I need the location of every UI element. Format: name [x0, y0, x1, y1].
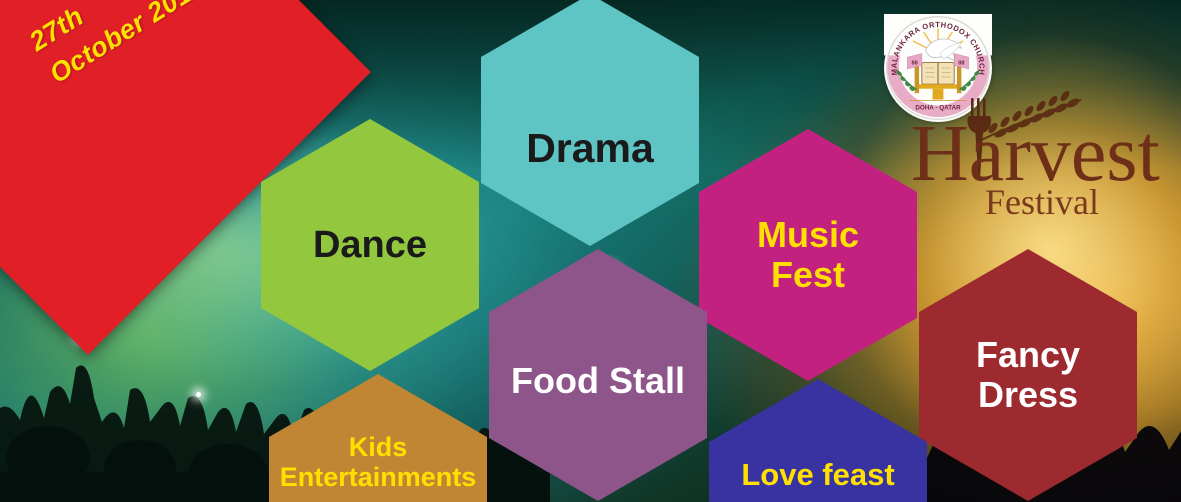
harvest-festival-banner: 27th October 2017 Drama Dance Music Fest…: [0, 0, 1181, 502]
harvest-festival-wordmark: Harvest Festival: [905, 92, 1181, 222]
seal-ribbon-left-text: 88: [911, 59, 917, 66]
hex-label-food-stall: Food Stall: [497, 361, 699, 401]
hex-label-dance: Dance: [299, 224, 441, 267]
hex-label-drama: Drama: [512, 126, 668, 172]
wordmark-subtitle: Festival: [985, 182, 1099, 222]
hex-label-fancy-dress: Fancy Dress: [962, 335, 1094, 416]
hex-label-love-feast: Love feast: [727, 458, 908, 493]
seal-ribbon-right-text: 88: [958, 59, 964, 66]
stage-light-spark: [196, 392, 201, 397]
hex-label-music-fest: Music Fest: [743, 215, 873, 296]
hex-label-kids-entertainments: Kids Entertainments: [266, 432, 491, 492]
